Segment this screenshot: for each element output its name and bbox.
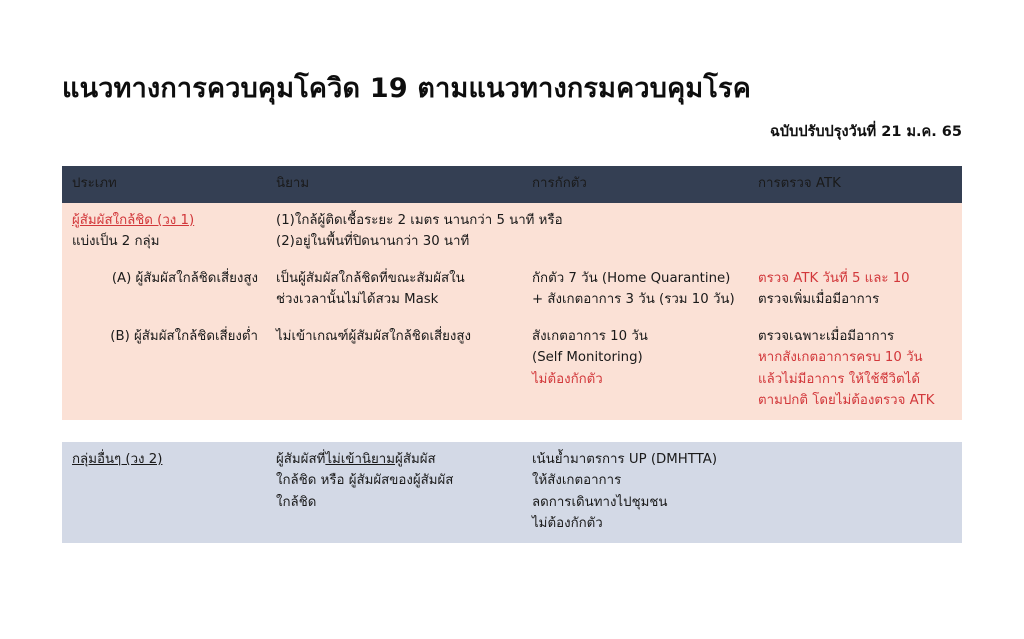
quarantine-line-1: กักตัว 7 วัน (Home Quarantine)	[532, 268, 740, 290]
cell-definition-low-risk: ไม่เข้าเกณฑ์ผู้สัมผัสใกล้ชิดเสี่ยงสูง	[266, 319, 522, 420]
cell-atk-other-group	[748, 442, 962, 543]
column-header-definition: นิยาม	[266, 166, 522, 203]
table-header: ประเภท นิยาม การกักตัว การตรวจ ATK	[62, 166, 962, 203]
page-title: แนวทางการควบคุมโควิด 19 ตามแนวทางกรมควบค…	[0, 72, 1024, 106]
quarantine-line-3: ไม่ต้องกักตัว	[532, 369, 740, 391]
definition-part-3: ผู้สัมผัส	[395, 452, 436, 467]
table-row: (A) ผู้สัมผัสใกล้ชิดเสี่ยงสูง เป็นผู้สัม…	[62, 261, 962, 319]
category-other-group-title: กลุ่มอื่นๆ (วง 2)	[72, 449, 258, 471]
cell-category-close-contact: ผู้สัมผัสใกล้ชิด (วง 1) แบ่งเป็น 2 กลุ่ม	[62, 203, 266, 261]
quarantine-line-3: ลดการเดินทางไปชุมชน	[532, 492, 740, 514]
table-header-row: ประเภท นิยาม การกักตัว การตรวจ ATK	[62, 166, 962, 203]
definition-part-1: ผู้สัมผัสที่	[276, 452, 325, 467]
column-header-atk: การตรวจ ATK	[748, 166, 962, 203]
row-spacer	[62, 420, 962, 442]
table-body: ผู้สัมผัสใกล้ชิด (วง 1) แบ่งเป็น 2 กลุ่ม…	[62, 203, 962, 543]
cell-category-low-risk: (B) ผู้สัมผัสใกล้ชิดเสี่ยงต่ำ	[62, 319, 266, 420]
title-block: แนวทางการควบคุมโควิด 19 ตามแนวทางกรมควบค…	[0, 72, 1024, 143]
quarantine-line-2: (Self Monitoring)	[532, 347, 740, 369]
revision-date: ฉบับปรับปรุงวันที่ 21 ม.ค. 65	[0, 106, 1024, 143]
cell-category-high-risk: (A) ผู้สัมผัสใกล้ชิดเสี่ยงสูง	[62, 261, 266, 319]
atk-line-3: แล้วไม่มีอาการ ให้ใช้ชีวิตได้	[758, 369, 954, 391]
quarantine-line-2: ให้สังเกตอาการ	[532, 470, 740, 492]
covid-guideline-table: ประเภท นิยาม การกักตัว การตรวจ ATK ผู้สั…	[62, 166, 962, 543]
quarantine-line-1: เน้นย้ำมาตรการ UP (DMHTTA)	[532, 449, 740, 471]
cell-definition-high-risk: เป็นผู้สัมผัสใกล้ชิดที่ขณะสัมผัสใน ช่วงเ…	[266, 261, 522, 319]
definition-line-2: ใกล้ชิด หรือ ผู้สัมผัสของผู้สัมผัส	[276, 470, 514, 492]
definition-line-1: ไม่เข้าเกณฑ์ผู้สัมผัสใกล้ชิดเสี่ยงสูง	[276, 326, 514, 348]
table-row: กลุ่มอื่นๆ (วง 2) ผู้สัมผัสที่ไม่เข้านิย…	[62, 442, 962, 543]
cell-quarantine-high-risk: กักตัว 7 วัน (Home Quarantine) + สังเกตอ…	[522, 261, 748, 319]
category-close-contact-title: ผู้สัมผัสใกล้ชิด (วง 1)	[72, 210, 258, 232]
atk-line-2: ตรวจเพิ่มเมื่อมีอาการ	[758, 289, 954, 311]
quarantine-line-2: + สังเกตอาการ 3 วัน (รวม 10 วัน)	[532, 289, 740, 311]
quarantine-line-1: สังเกตอาการ 10 วัน	[532, 326, 740, 348]
definition-line-1: ผู้สัมผัสที่ไม่เข้านิยามผู้สัมผัส	[276, 449, 514, 471]
cell-atk-high-risk: ตรวจ ATK วันที่ 5 และ 10 ตรวจเพิ่มเมื่อม…	[748, 261, 962, 319]
definition-part-2-underlined: ไม่เข้านิยาม	[325, 452, 395, 467]
definition-line-2: ช่วงเวลานั้นไม่ได้สวม Mask	[276, 289, 514, 311]
atk-line-4: ตามปกติ โดยไม่ต้องตรวจ ATK	[758, 390, 954, 412]
definition-line-2: (2)อยู่ในพื้นที่ปิดนานกว่า 30 นาที	[276, 231, 954, 253]
table-row: (B) ผู้สัมผัสใกล้ชิดเสี่ยงต่ำ ไม่เข้าเกณ…	[62, 319, 962, 420]
cell-quarantine-low-risk: สังเกตอาการ 10 วัน (Self Monitoring) ไม่…	[522, 319, 748, 420]
table-row: ผู้สัมผัสใกล้ชิด (วง 1) แบ่งเป็น 2 กลุ่ม…	[62, 203, 962, 261]
cell-category-other-group: กลุ่มอื่นๆ (วง 2)	[62, 442, 266, 543]
definition-line-1: (1)ใกล้ผู้ติดเชื้อระยะ 2 เมตร นานกว่า 5 …	[276, 210, 954, 232]
definition-line-1: เป็นผู้สัมผัสใกล้ชิดที่ขณะสัมผัสใน	[276, 268, 514, 290]
atk-line-1: ตรวจเฉพาะเมื่อมีอาการ	[758, 326, 954, 348]
row-spacer-cell	[62, 420, 962, 442]
column-header-quarantine: การกักตัว	[522, 166, 748, 203]
atk-line-2: หากสังเกตอาการครบ 10 วัน	[758, 347, 954, 369]
atk-line-1: ตรวจ ATK วันที่ 5 และ 10	[758, 268, 954, 290]
cell-definition-close-contact: (1)ใกล้ผู้ติดเชื้อระยะ 2 เมตร นานกว่า 5 …	[266, 203, 962, 261]
quarantine-line-4: ไม่ต้องกักตัว	[532, 513, 740, 535]
category-close-contact-subtitle: แบ่งเป็น 2 กลุ่ม	[72, 231, 258, 253]
cell-quarantine-other-group: เน้นย้ำมาตรการ UP (DMHTTA) ให้สังเกตอากา…	[522, 442, 748, 543]
cell-atk-low-risk: ตรวจเฉพาะเมื่อมีอาการ หากสังเกตอาการครบ …	[748, 319, 962, 420]
column-header-category: ประเภท	[62, 166, 266, 203]
definition-line-3: ใกล้ชิด	[276, 492, 514, 514]
cell-definition-other-group: ผู้สัมผัสที่ไม่เข้านิยามผู้สัมผัส ใกล้ชิ…	[266, 442, 522, 543]
